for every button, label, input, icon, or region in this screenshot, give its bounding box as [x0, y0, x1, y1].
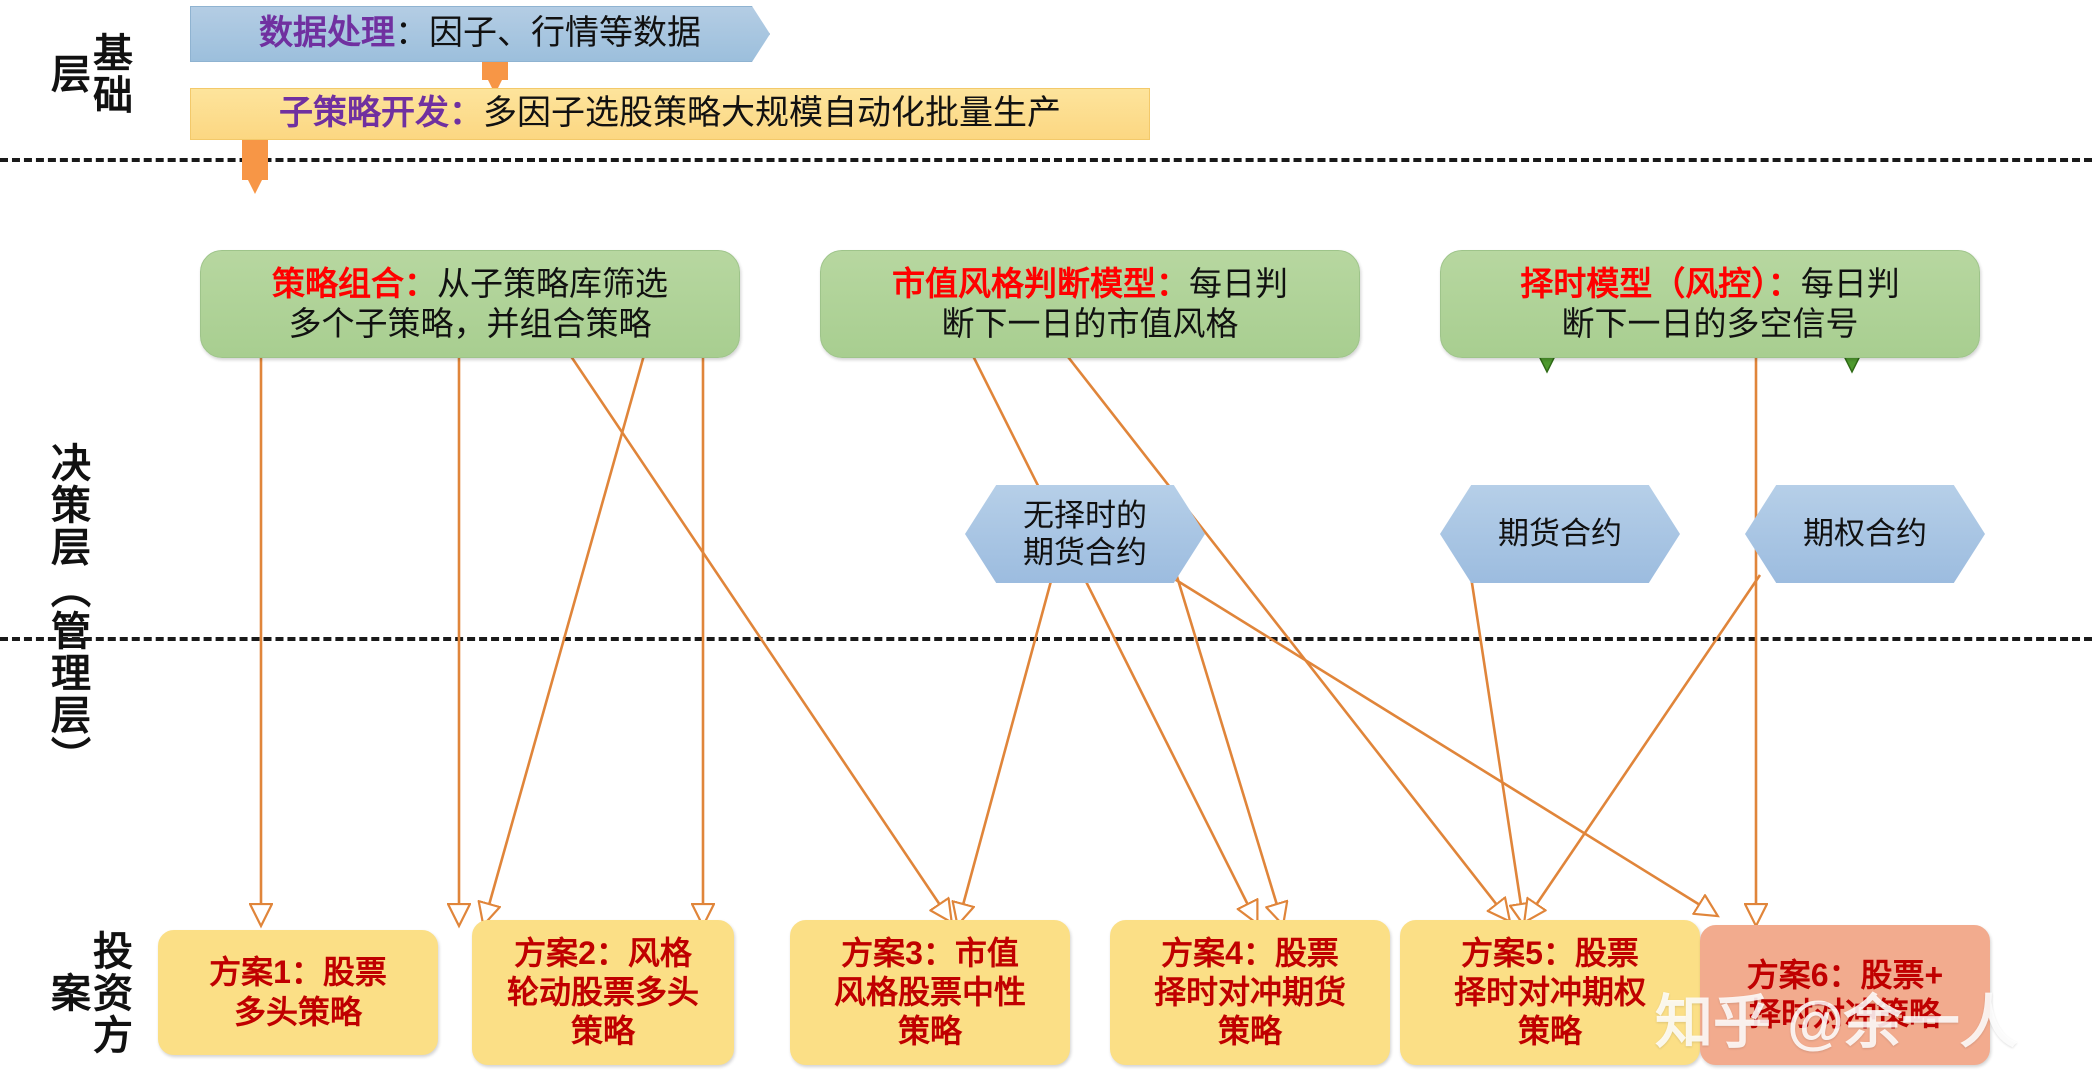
hex-futures-contract[interactable]: 期货合约: [1440, 485, 1680, 583]
wire-options-to-plan5: [1470, 570, 1521, 905]
plan3-line1: 方案3：市值: [841, 935, 1019, 971]
futures-no-timing-line1: 无择时的: [1023, 498, 1147, 533]
box-model-market-cap-style[interactable]: 市值风格判断模型：每日判 断下一日的市值风格: [820, 250, 1360, 358]
wire-portfolio-to-plan3: [513, 270, 940, 905]
options-label: 期权合约: [1803, 515, 1927, 552]
substrategy-body: 多因子选股策略大规模自动化批量生产: [483, 94, 1061, 132]
substrategy-keyword: 子策略开发：: [279, 94, 483, 132]
layer-label-foundation: 基础层: [46, 14, 130, 134]
plan-box-plan2[interactable]: 方案2：风格 轮动股票多头 策略: [472, 920, 734, 1065]
data-processing-keyword: 数据处理: [259, 14, 395, 52]
plan2-line2: 轮动股票多头: [507, 974, 699, 1010]
wire-options-cross-to-plan5: [1536, 575, 1760, 905]
plan-box-plan4[interactable]: 方案4：股票 择时对冲期货 策略: [1110, 920, 1390, 1065]
portfolio-line2: 多个子策略，并组合策略: [289, 305, 652, 342]
futures-label: 期货合约: [1498, 515, 1622, 552]
hex-options-contract[interactable]: 期权合约: [1745, 485, 1985, 583]
plan1-line1: 方案1：股票: [209, 954, 387, 990]
plan3-line2: 风格股票中性: [834, 974, 1026, 1010]
portfolio-line1: 从子策略库筛选: [437, 265, 668, 302]
style-model-keyword: 市值风格判断模型：: [892, 265, 1189, 302]
timing-model-keyword: 择时模型（风控）：: [1520, 265, 1801, 302]
data-processing-body: 因子、行情等数据: [429, 14, 701, 52]
box-substrategy-development[interactable]: 子策略开发：多因子选股策略大规模自动化批量生产: [190, 88, 1150, 140]
plan1-line2: 多头策略: [234, 994, 362, 1030]
wire-futures-cross-to-plan6: [1168, 575, 1700, 905]
plan4-line3: 策略: [1218, 1013, 1282, 1049]
plan2-line3: 策略: [571, 1013, 635, 1049]
wire-futures-no-timing-to-plan3: [963, 570, 1054, 905]
plan5-line3: 策略: [1518, 1013, 1582, 1049]
plan2-line1: 方案2：风格: [514, 935, 692, 971]
plan4-line2: 择时对冲期货: [1154, 974, 1346, 1010]
plan5-line2: 择时对冲期权: [1454, 974, 1646, 1010]
style-model-line1: 每日判: [1189, 265, 1288, 302]
diagram-canvas: 基础层 决策层（管理层） 投资方案: [0, 0, 2092, 1089]
hex-futures-no-timing[interactable]: 无择时的 期货合约: [965, 485, 1205, 583]
futures-no-timing-line2: 期货合约: [1023, 535, 1147, 570]
wire-style-to-plan4: [930, 270, 1248, 905]
wire-style-to-plan2: [489, 270, 668, 905]
divider-foundation-decision: [0, 158, 2092, 162]
divider-decision-investment: [0, 637, 2092, 641]
box-data-processing[interactable]: 数据处理：因子、行情等数据: [190, 6, 770, 62]
timing-model-line1: 每日判: [1801, 265, 1900, 302]
box-model-portfolio[interactable]: 策略组合：从子策略库筛选 多个子策略，并组合策略: [200, 250, 740, 358]
style-model-line2: 断下一日的市值风格: [942, 305, 1239, 342]
plan3-line3: 策略: [898, 1013, 962, 1049]
plan4-line1: 方案4：股票: [1161, 935, 1339, 971]
plan-box-plan1[interactable]: 方案1：股票 多头策略: [158, 930, 438, 1055]
wire-style-to-plan5: [1000, 270, 1497, 905]
layer-label-investment: 投资方案: [46, 910, 130, 1075]
portfolio-keyword: 策略组合：: [272, 265, 437, 302]
wire-futures-to-plan4: [1175, 570, 1277, 905]
layer-label-decision: 决策层（管理层）: [46, 390, 88, 830]
box-model-timing-risk-control[interactable]: 择时模型（风控）：每日判 断下一日的多空信号: [1440, 250, 1980, 358]
watermark: 知乎 @余一人: [1655, 975, 2018, 1059]
plan-box-plan3[interactable]: 方案3：市值 风格股票中性 策略: [790, 920, 1070, 1065]
plan5-line1: 方案5：股票: [1461, 935, 1639, 971]
timing-model-line2: 断下一日的多空信号: [1562, 305, 1859, 342]
data-processing-sep: ：: [395, 14, 429, 52]
